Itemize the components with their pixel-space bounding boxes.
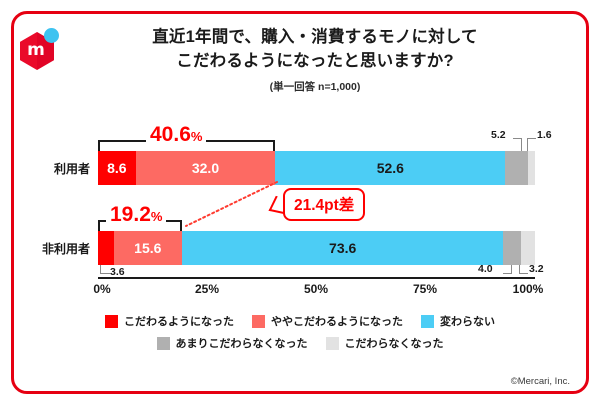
- bar-segment-amari-kodawaranai: [503, 231, 521, 265]
- legend-item-yaya-kodawaru[interactable]: ややこだわるようになった: [252, 313, 403, 329]
- bar-segment-yaya-kodawaru: 32.0: [136, 151, 276, 185]
- outside-label-bar1-kodawaranai: 1.6: [537, 129, 552, 141]
- difference-callout: 21.4pt差: [283, 188, 365, 221]
- x-tick-100: 100%: [513, 282, 544, 296]
- total-value-bar2: 19.2%: [106, 203, 166, 227]
- bar-segment-kodawaranai: [528, 151, 535, 185]
- leader-line-bar2-kodawaru: [100, 265, 110, 274]
- legend-item-kawaranai[interactable]: 変わらない: [421, 313, 495, 329]
- legend-swatch-icon: [421, 315, 434, 328]
- legend-swatch-icon: [326, 337, 339, 350]
- legend-swatch-icon: [157, 337, 170, 350]
- leader-line-bar2-kodawaranai: [519, 265, 528, 274]
- legend-label: あまりこだわらなくなった: [176, 335, 308, 351]
- outside-label-bar2-amari: 4.0: [478, 263, 493, 275]
- legend-item-amari-kodawaranai[interactable]: あまりこだわらなくなった: [157, 335, 308, 351]
- bar-row-hiriyousha: 15.6 73.6: [98, 231, 535, 265]
- bar-segment-kodawaru: 8.6: [98, 151, 136, 185]
- copyright-notice: ©Mercari, Inc.: [511, 376, 570, 387]
- x-tick-75: 75%: [413, 282, 437, 296]
- infographic-card: m 直近1年間で、購入・消費するモノに対して こだわるようになったと思いますか?…: [0, 0, 600, 405]
- bar-segment-kodawaru: [98, 231, 114, 265]
- chart-legend: こだわるようになった ややこだわるようになった 変わらない あまりこだわらなくな…: [30, 313, 570, 357]
- bar-segment-kawaranai: 52.6: [275, 151, 505, 185]
- legend-label: こだわらなくなった: [345, 335, 444, 351]
- leader-line-bar1-amari: [513, 138, 522, 151]
- total-value-bar1: 40.6%: [146, 123, 206, 147]
- legend-swatch-icon: [105, 315, 118, 328]
- legend-label: ややこだわるようになった: [271, 313, 403, 329]
- legend-label: 変わらない: [440, 313, 495, 329]
- x-tick-50: 50%: [304, 282, 328, 296]
- x-axis-line: [98, 277, 535, 279]
- bar-segment-kawaranai: 73.6: [182, 231, 504, 265]
- bar-segment-yaya-kodawaru: 15.6: [114, 231, 182, 265]
- outside-label-bar1-amari: 5.2: [491, 129, 506, 141]
- outside-label-bar2-kodawaranai: 3.2: [529, 263, 544, 275]
- bar-row-riyousha: 8.6 32.0 52.6: [98, 151, 535, 185]
- legend-swatch-icon: [252, 315, 265, 328]
- x-tick-0: 0%: [93, 282, 110, 296]
- leader-line-bar2-amari: [503, 265, 512, 274]
- leader-line-bar1-kodawaranai: [527, 138, 536, 151]
- category-label-hiriyousha: 非利用者: [10, 240, 90, 257]
- legend-item-kodawaru[interactable]: こだわるようになった: [105, 313, 234, 329]
- legend-item-kodawaranai[interactable]: こだわらなくなった: [326, 335, 444, 351]
- legend-label: こだわるようになった: [124, 313, 234, 329]
- bar-segment-kodawaranai: [521, 231, 535, 265]
- legend-row-1: こだわるようになった ややこだわるようになった 変わらない: [30, 313, 570, 329]
- x-tick-25: 25%: [195, 282, 219, 296]
- bar-segment-amari-kodawaranai: [505, 151, 528, 185]
- category-label-riyousha: 利用者: [10, 160, 90, 177]
- legend-row-2: あまりこだわらなくなった こだわらなくなった: [30, 335, 570, 351]
